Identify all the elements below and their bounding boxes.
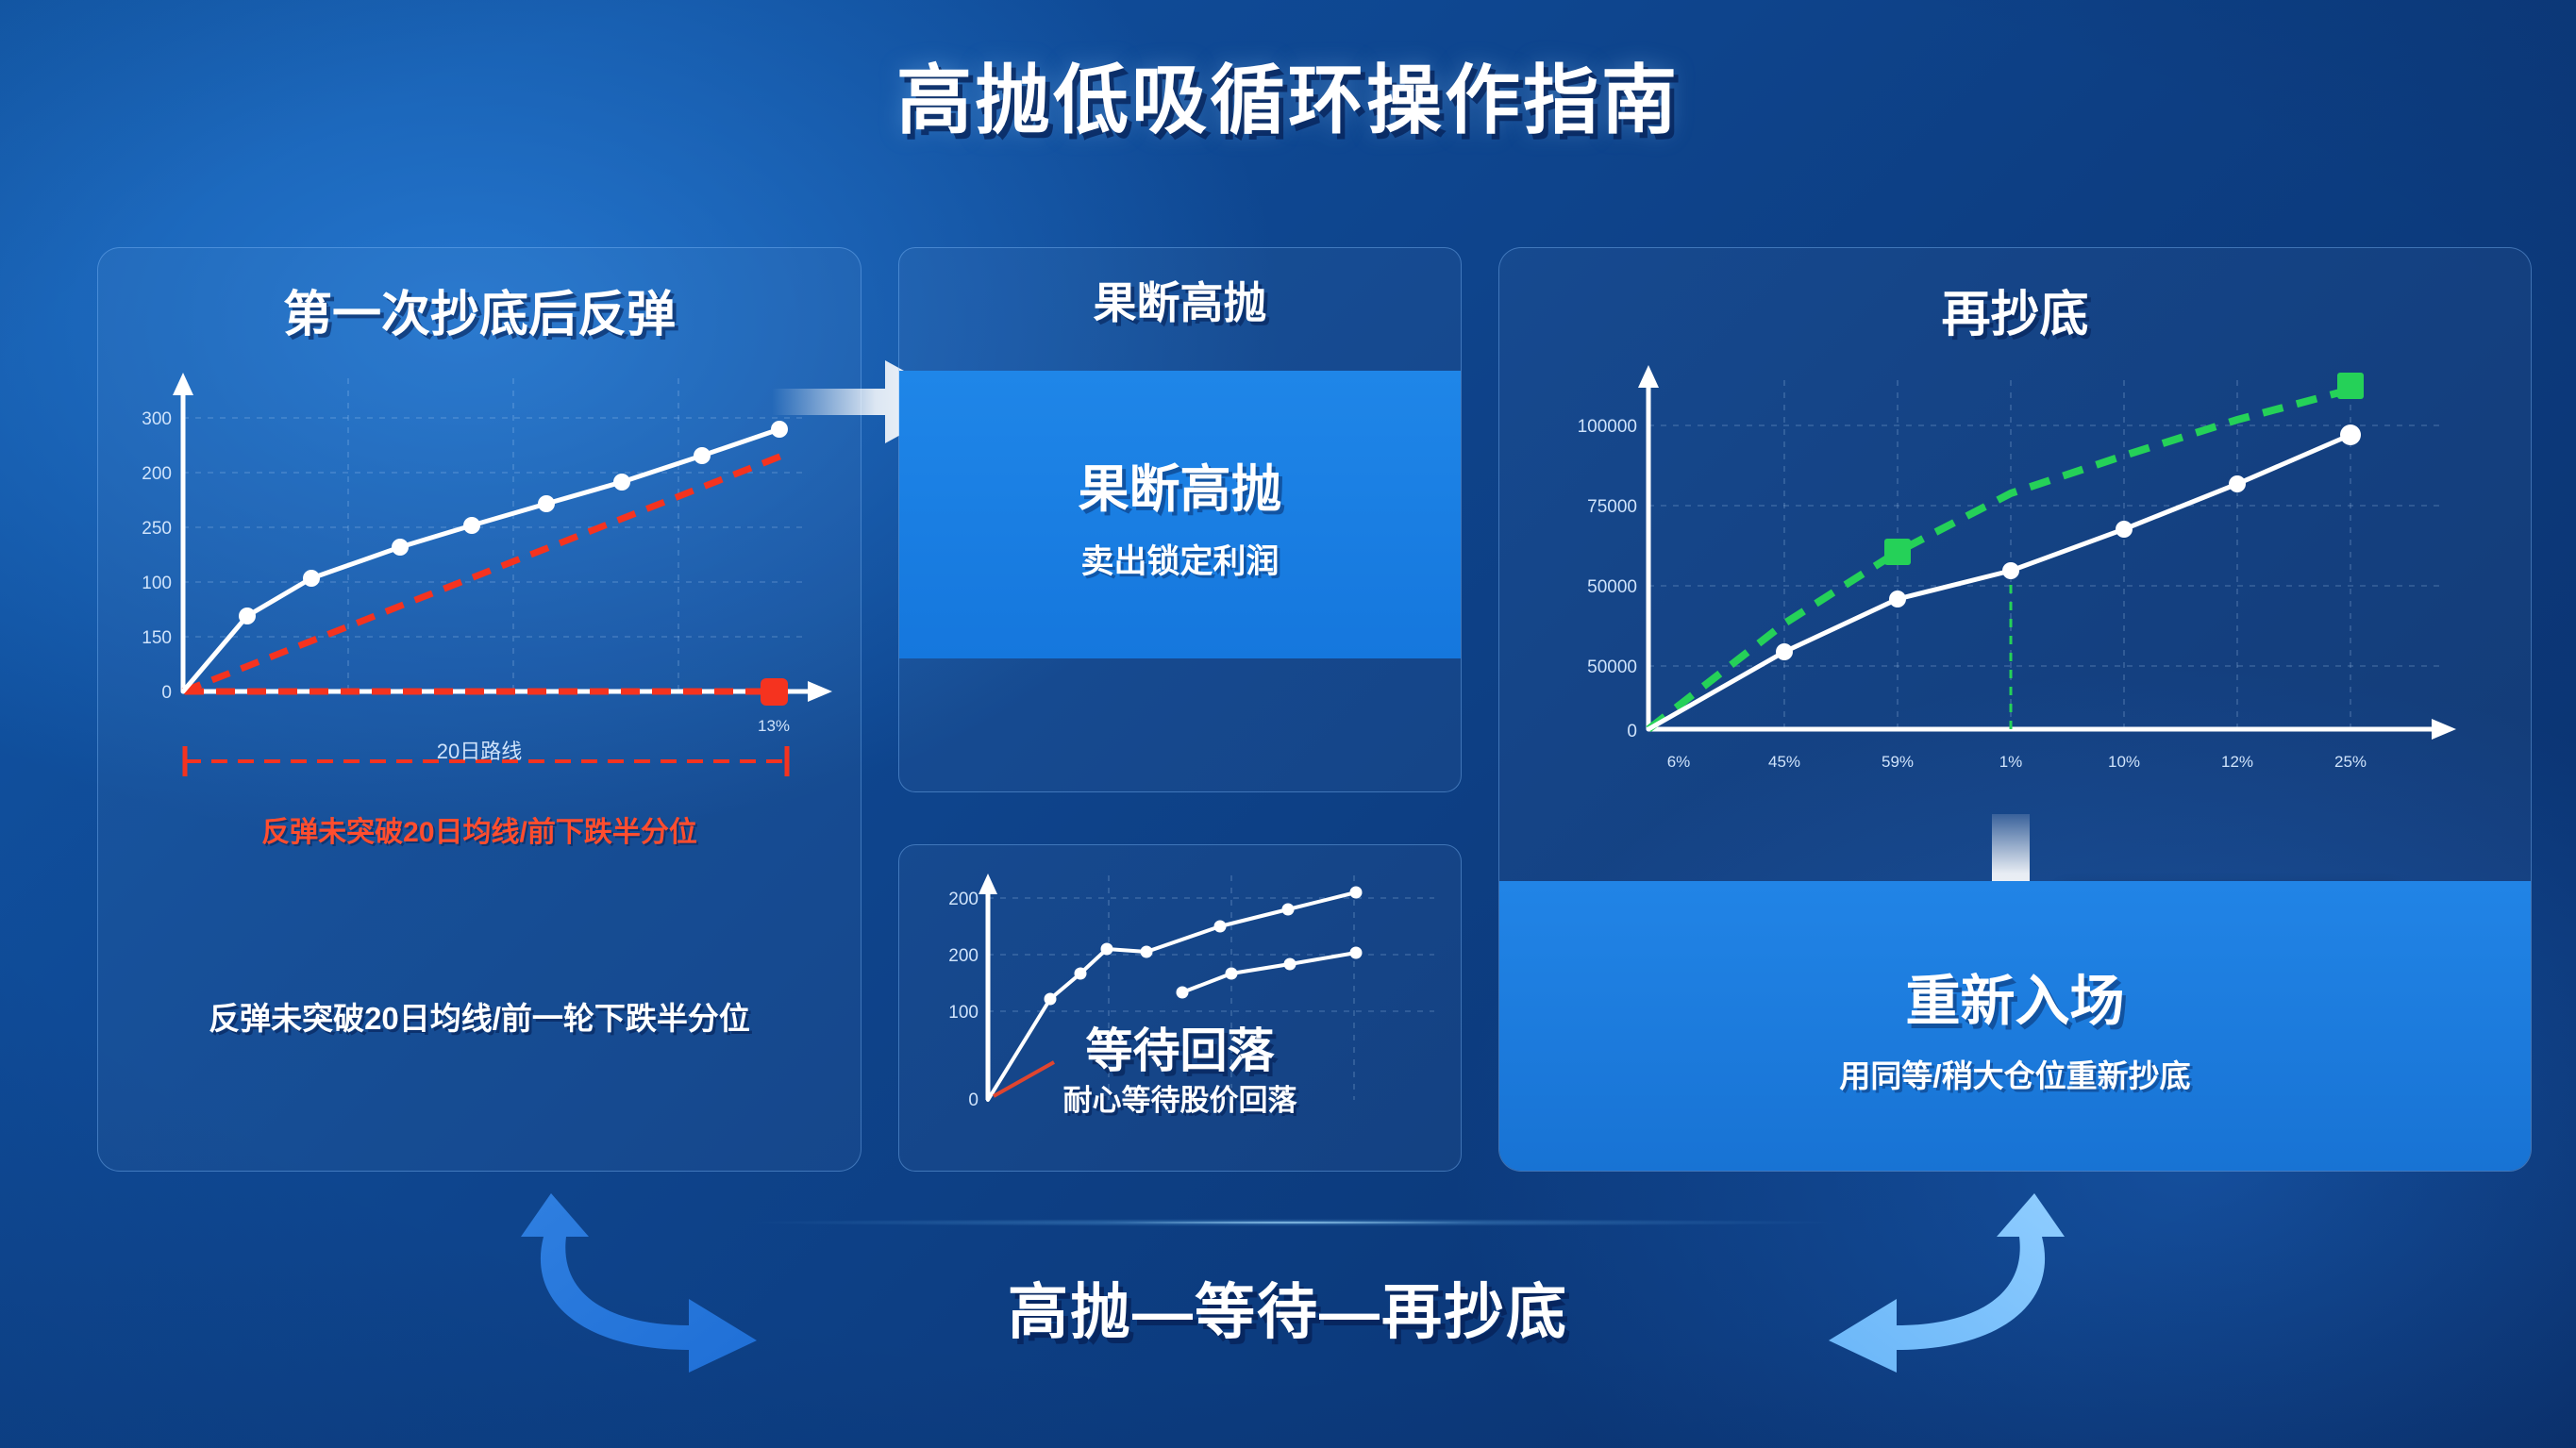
left-chart-svg: 300 200 250 100 150 0 bbox=[126, 361, 834, 767]
right-x-tick-3: 1% bbox=[1999, 753, 2023, 771]
green-square-marker-1 bbox=[1884, 539, 1911, 565]
right-x-tick-0: 6% bbox=[1667, 753, 1691, 771]
right-rebuy-chart: 100000 75000 50000 50000 0 6% 45% 59% 1%… bbox=[1537, 352, 2490, 795]
right-x-tick-4: 10% bbox=[2108, 753, 2140, 771]
axes bbox=[1638, 365, 2456, 740]
series-ma20-dashed bbox=[183, 454, 787, 691]
reenter-title: 重新入场 bbox=[1905, 957, 2124, 1036]
right-x-tick-5: 12% bbox=[2221, 753, 2253, 771]
mid-y-tick-0: 200 bbox=[948, 890, 979, 909]
red-square-marker bbox=[761, 678, 788, 706]
series-rebound-white bbox=[183, 429, 779, 691]
panel-decisive-sell: 果断高抛 果断高抛 卖出锁定利润 bbox=[898, 247, 1462, 792]
page-title: 高抛低吸循环操作指南 bbox=[0, 40, 2576, 149]
y-tick-5: 0 bbox=[161, 683, 172, 703]
y-tick-4: 150 bbox=[142, 628, 172, 648]
series-rebound-markers bbox=[239, 421, 788, 624]
wait-pullback-sub: 耐心等待股价回落 bbox=[899, 1076, 1461, 1119]
right-x-tick-2: 59% bbox=[1882, 753, 1914, 771]
panel-rebuy-bottom: 再抄底 100000 750 bbox=[1498, 247, 2532, 1172]
panel-right-header: 再抄底 bbox=[1499, 275, 2531, 345]
y-tick-labels: 100000 75000 50000 50000 0 bbox=[1578, 417, 1637, 741]
right-y-tick-0: 100000 bbox=[1578, 417, 1637, 437]
right-y-tick-1: 75000 bbox=[1587, 497, 1637, 517]
panel-left-header: 第一次抄底后反弹 bbox=[98, 275, 861, 345]
right-chart-svg: 100000 75000 50000 50000 0 6% 45% 59% 1%… bbox=[1537, 352, 2490, 795]
wait-pullback-title: 等待回落 bbox=[899, 1013, 1461, 1081]
x-tick-labels: 6% 45% 59% 1% 10% 12% 25% bbox=[1667, 753, 2367, 771]
panel-mid-top-header: 果断高抛 bbox=[899, 269, 1461, 331]
y-tick-0: 300 bbox=[142, 409, 172, 429]
y-tick-1: 200 bbox=[142, 464, 172, 484]
decisive-sell-card: 果断高抛 卖出锁定利润 bbox=[899, 371, 1461, 658]
right-y-tick-2: 50000 bbox=[1587, 577, 1637, 597]
grid-lines bbox=[183, 378, 806, 691]
reenter-sub: 用同等/稍大仓位重新抄底 bbox=[1839, 1051, 2190, 1096]
panel-wait-pullback: 200 200 100 0 bbox=[898, 844, 1462, 1172]
right-y-tick-4: 0 bbox=[1627, 722, 1637, 741]
y-tick-labels: 300 200 250 100 150 0 bbox=[142, 409, 172, 703]
y-tick-2: 250 bbox=[142, 519, 172, 539]
axes bbox=[173, 373, 832, 702]
panel-first-bottom-rebound: 第一次抄底后反弹 300 bbox=[97, 247, 861, 1172]
x-tick-end: 13% bbox=[758, 717, 790, 735]
footer-glow-line bbox=[736, 1219, 1849, 1226]
right-y-tick-3: 50000 bbox=[1587, 657, 1637, 677]
right-x-tick-1: 45% bbox=[1768, 753, 1800, 771]
y-tick-3: 100 bbox=[142, 574, 172, 593]
series-rebuy-markers bbox=[1776, 424, 2361, 660]
mid-y-tick-1: 200 bbox=[948, 946, 979, 966]
reenter-market-card: 重新入场 用同等/稍大仓位重新抄底 bbox=[1499, 881, 2531, 1171]
green-square-marker-2 bbox=[2337, 373, 2364, 399]
decisive-sell-sub: 卖出锁定利润 bbox=[1080, 535, 1279, 583]
left-caption-red: 反弹未突破20日均线/前下跌半分位 bbox=[98, 808, 861, 850]
footer-cycle-text: 高抛—等待—再抄底 bbox=[0, 1264, 2576, 1351]
left-caption-white: 反弹未突破20日均线/前一轮下跌半分位 bbox=[98, 993, 861, 1039]
left-chart-axis-note: 20日路线 bbox=[98, 735, 861, 765]
decisive-sell-title: 果断高抛 bbox=[1079, 447, 1282, 522]
series-sell-green bbox=[1648, 390, 2350, 729]
series-pullback-white bbox=[1182, 953, 1356, 992]
grid-lines bbox=[1648, 380, 2443, 729]
series-rebuy-white bbox=[1648, 435, 2350, 729]
right-x-tick-6: 25% bbox=[2334, 753, 2367, 771]
left-rebound-chart: 300 200 250 100 150 0 bbox=[126, 361, 834, 767]
